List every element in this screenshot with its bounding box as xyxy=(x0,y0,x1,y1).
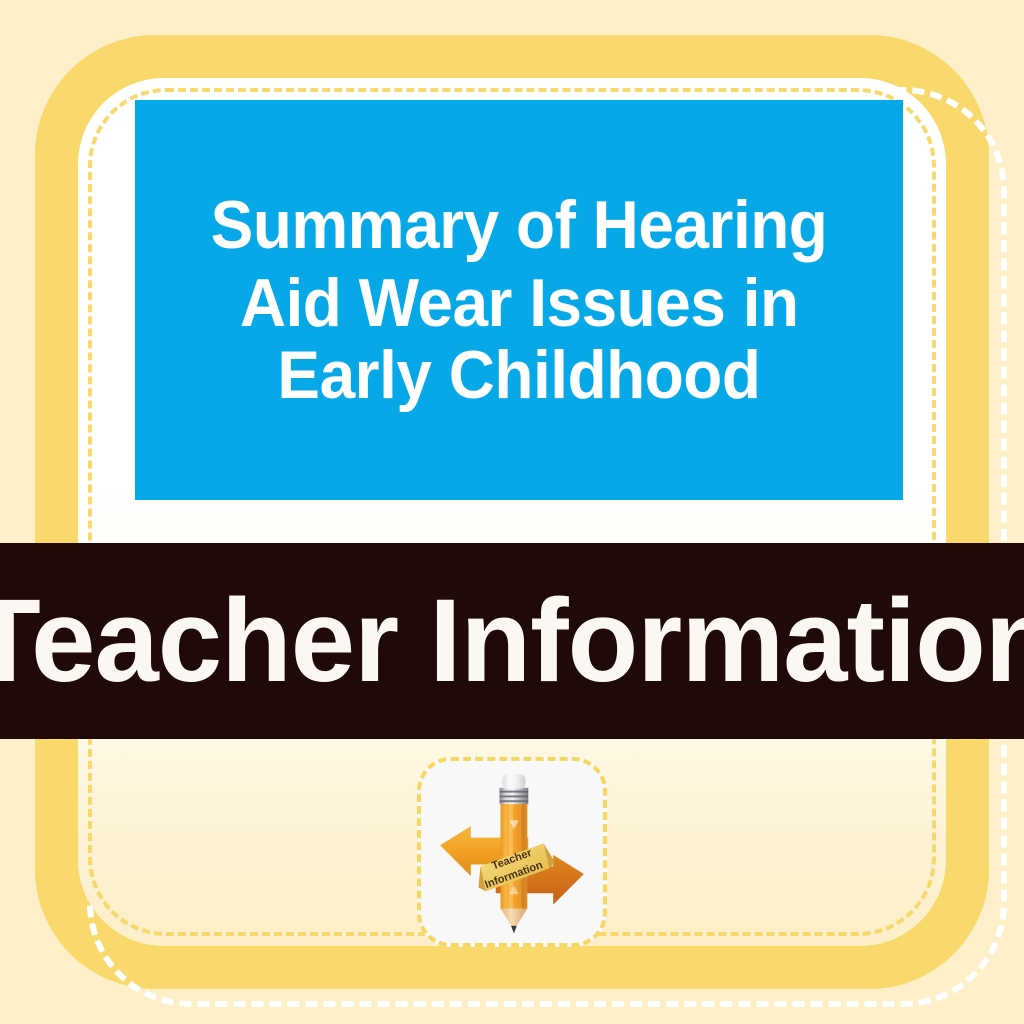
page-title-line-2: Aid Wear Issues in xyxy=(240,267,799,339)
subtitle-banner: Teacher Information xyxy=(0,543,1024,739)
page-title-line-3: Early Childhood xyxy=(277,339,760,411)
subtitle-label: Teacher Information xyxy=(0,582,1024,700)
pencil-with-arrows-icon: Teacher Information xyxy=(417,757,607,947)
page-title-line-1: Summary of Hearing xyxy=(211,189,828,261)
poster-canvas: Summary of Hearing Aid Wear Issues in Ea… xyxy=(0,0,1024,1024)
eraser-tip xyxy=(502,774,525,788)
pencil-wood xyxy=(501,909,528,926)
pencil-tip xyxy=(511,926,517,934)
pencil-with-arrows-illustration: Teacher Information xyxy=(421,761,603,943)
title-plate: Summary of Hearing Aid Wear Issues in Ea… xyxy=(135,100,903,500)
